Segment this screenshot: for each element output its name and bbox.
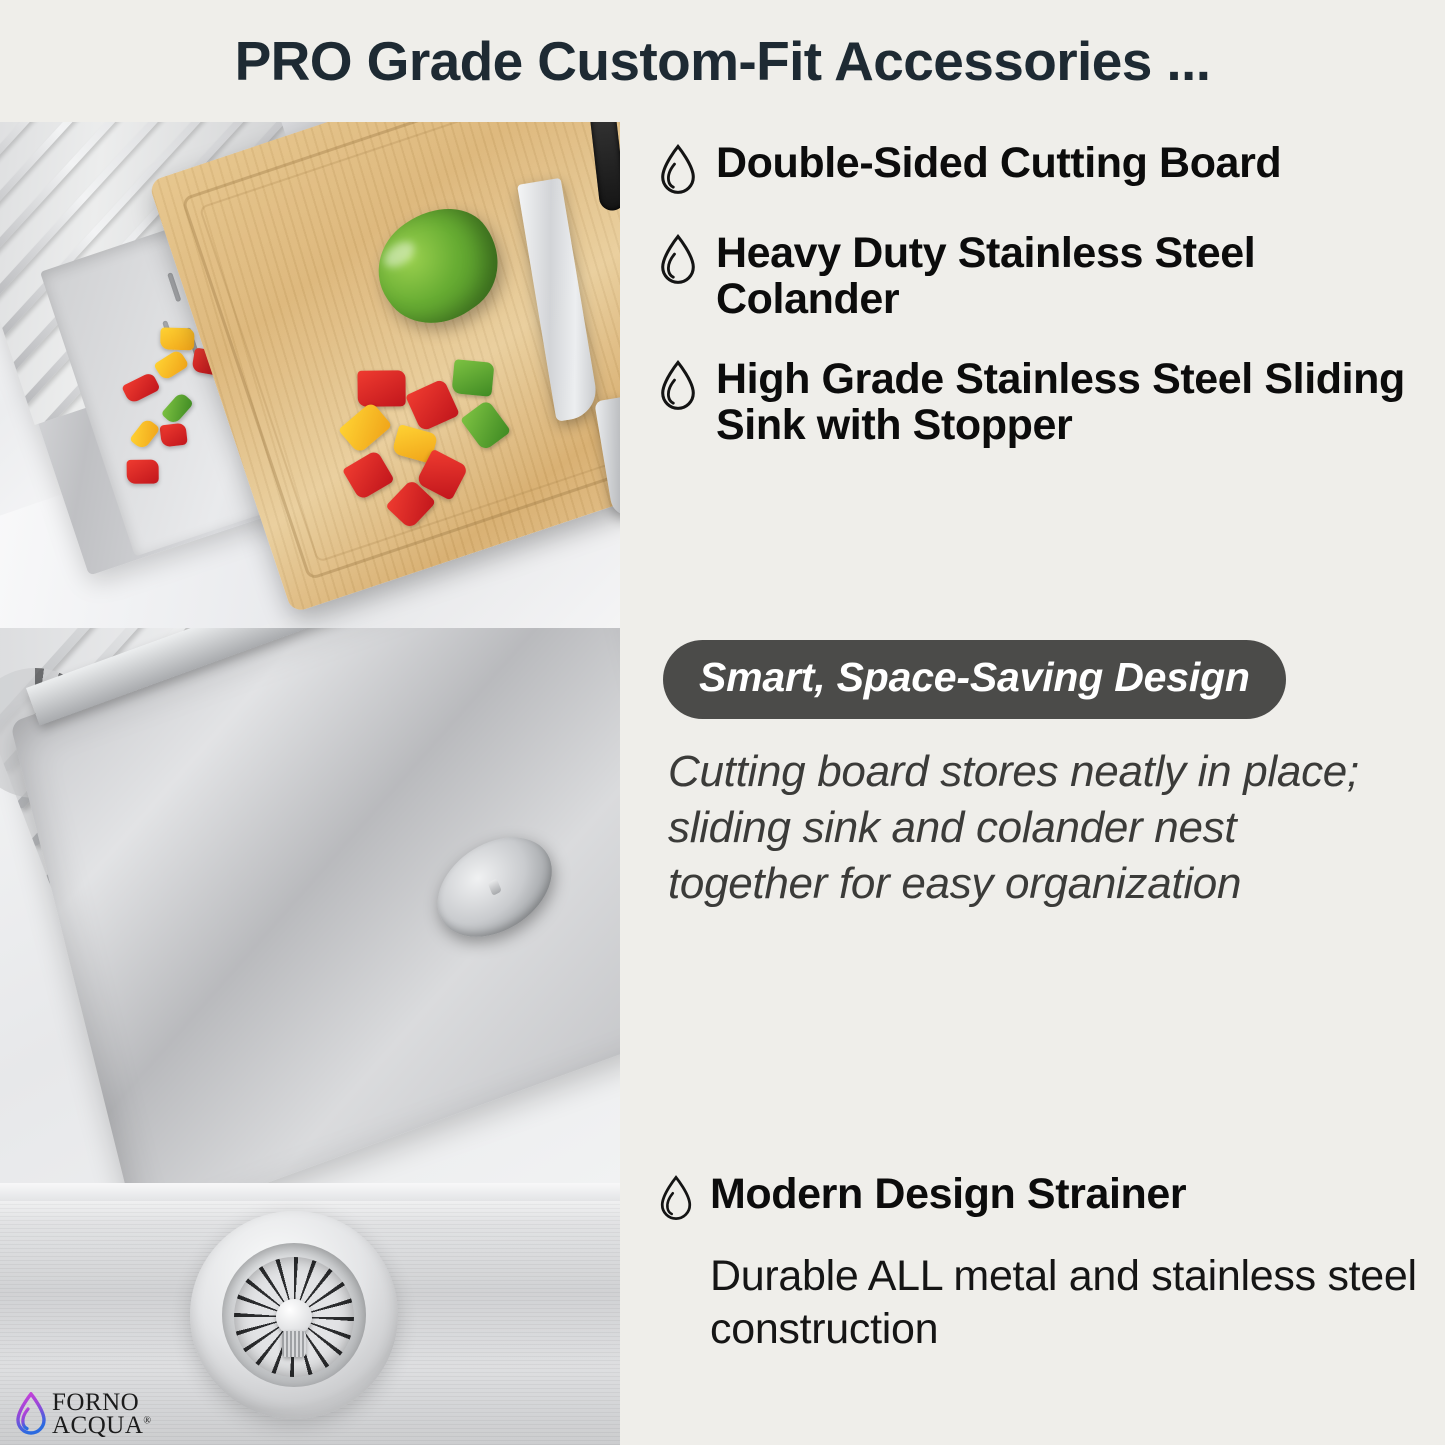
feature-item-colander: Heavy Duty Stainless Steel Colander [658,230,1418,322]
sink-drain [424,818,566,957]
photo-column: FORNO ACQUA [0,122,620,1445]
forno-acqua-logo: FORNO ACQUA® [14,1391,152,1437]
strainer-description: Durable ALL metal and stainless steel co… [710,1250,1445,1356]
logo-wordmark: FORNO ACQUA® [52,1391,152,1437]
feature-list: Double-Sided Cutting Board Heavy Duty St… [658,140,1418,482]
design-description: Cutting board stores neatly in place; sl… [668,744,1388,912]
logo-line-2: ACQUA® [52,1414,152,1437]
strainer-hub [276,1299,312,1335]
feature-item-cutting-board: Double-Sided Cutting Board [658,140,1418,196]
logo-droplet-icon [14,1392,48,1436]
design-badge-wrap: Smart, Space-Saving Design [663,640,1286,719]
page-title: PRO Grade Custom-Fit Accessories ... [235,29,1211,93]
feature-item-sliding-sink: High Grade Stainless Steel Sliding Sink … [658,356,1418,448]
logo-line-1: FORNO [52,1391,152,1414]
status-badge: Smart, Space-Saving Design [663,640,1286,719]
photo3-top-edge [0,1183,620,1201]
water-drop-icon [658,234,698,286]
feature-label: Double-Sided Cutting Board [716,140,1281,186]
infographic-page: PRO Grade Custom-Fit Accessories ... [0,0,1445,1445]
water-drop-icon [658,360,698,412]
cutting-board-with-vegetables-photo: FORNO ACQUA [0,122,620,628]
strainer-title: Modern Design Strainer [710,1172,1186,1217]
feature-label: High Grade Stainless Steel Sliding Sink … [716,356,1418,448]
sink-basin-photo [0,628,620,1183]
strainer-block: Modern Design Strainer Durable ALL metal… [658,1172,1438,1356]
content-column: Double-Sided Cutting Board Heavy Duty St… [620,122,1445,1445]
strainer-closeup-photo: FORNO ACQUA® [0,1183,620,1445]
strainer-stem [282,1331,306,1357]
registered-mark: ® [143,1416,151,1427]
title-bar: PRO Grade Custom-Fit Accessories ... [0,0,1445,122]
feature-label: Heavy Duty Stainless Steel Colander [716,230,1418,322]
water-drop-icon [658,144,698,196]
water-drop-icon [658,1175,694,1222]
strainer-title-row: Modern Design Strainer [658,1172,1438,1222]
